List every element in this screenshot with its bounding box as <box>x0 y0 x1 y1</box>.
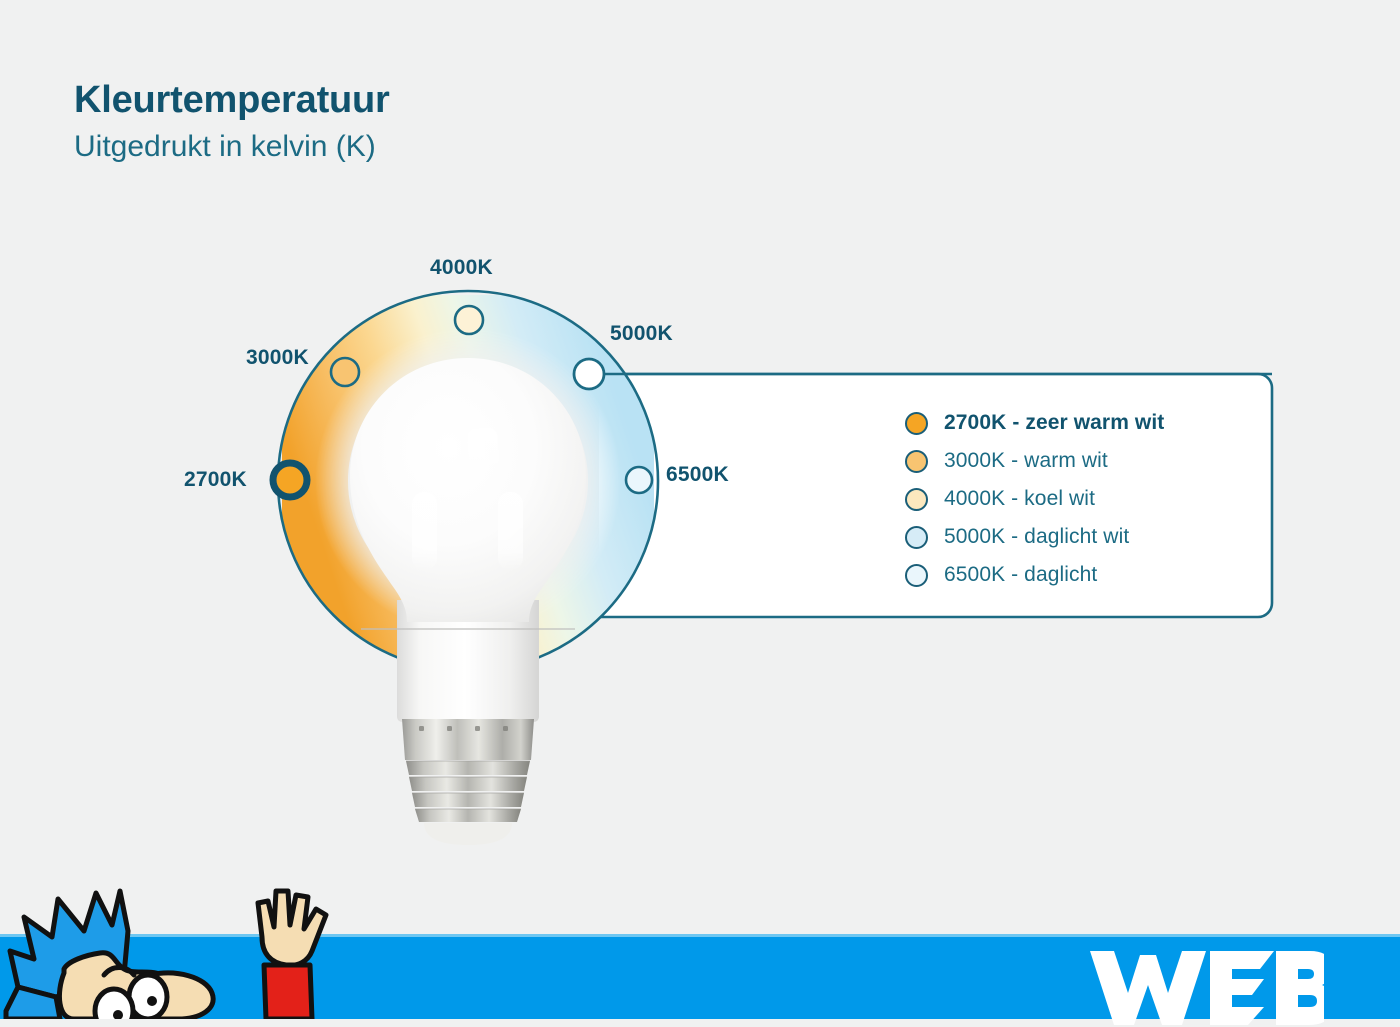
mascot-character-icon <box>0 879 345 1019</box>
legend-item-4000k[interactable]: 4000K - koel wit <box>905 480 1164 518</box>
ring-label-2700k: 2700K <box>184 468 247 492</box>
legend-swatch-5000k <box>905 526 928 549</box>
legend-label-4000k: 4000K - koel wit <box>944 487 1095 511</box>
ring-node-4000k[interactable] <box>455 306 483 334</box>
legend-label-6500k: 6500K - daglicht <box>944 563 1097 587</box>
ring-node-6500k[interactable] <box>626 467 652 493</box>
legend-item-3000k[interactable]: 3000K - warm wit <box>905 442 1164 480</box>
ring-label-5000k: 5000K <box>610 322 673 346</box>
legend-swatch-6500k <box>905 564 928 587</box>
legend-label-2700k: 2700K - zeer warm wit <box>944 411 1164 435</box>
legend-label-3000k: 3000K - warm wit <box>944 449 1108 473</box>
infographic-canvas: Kleurtemperatuur Uitgedrukt in kelvin (K… <box>0 0 1400 1019</box>
ring-label-3000k: 3000K <box>246 346 309 370</box>
legend-item-2700k[interactable]: 2700K - zeer warm wit <box>905 404 1164 442</box>
ring-node-5000k[interactable] <box>574 359 604 389</box>
legend-swatch-2700k <box>905 412 928 435</box>
ring-label-6500k: 6500K <box>666 463 729 487</box>
color-temperature-diagram <box>0 0 1400 1019</box>
legend-swatch-4000k <box>905 488 928 511</box>
legend-item-6500k[interactable]: 6500K - daglicht <box>905 556 1164 594</box>
legend-list: 2700K - zeer warm wit 3000K - warm wit 4… <box>905 404 1164 594</box>
legend-swatch-3000k <box>905 450 928 473</box>
ring-node-3000k[interactable] <box>331 358 359 386</box>
weba-logo-icon <box>1088 941 1324 1027</box>
legend-label-5000k: 5000K - daglicht wit <box>944 525 1129 549</box>
ring-node-2700k[interactable] <box>273 463 307 497</box>
ring-label-4000k: 4000K <box>430 256 493 280</box>
legend-item-5000k[interactable]: 5000K - daglicht wit <box>905 518 1164 556</box>
